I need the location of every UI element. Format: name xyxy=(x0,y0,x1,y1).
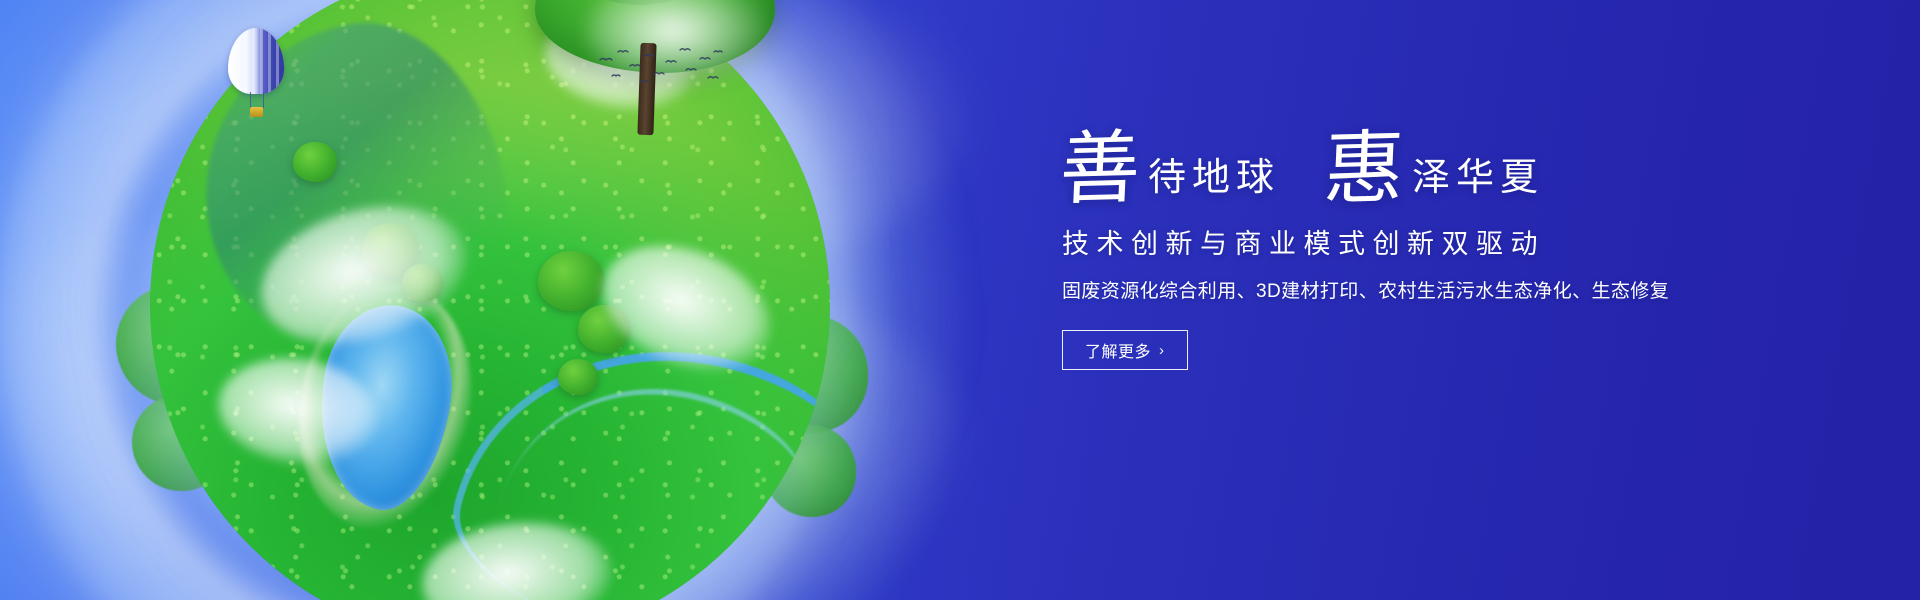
banner-content: 善 待地球 惠 泽华夏 技术创新与商业模式创新双驱动 固废资源化综合利用、3D建… xyxy=(1060,130,1780,370)
learn-more-button[interactable]: 了解更多 › xyxy=(1062,330,1188,370)
headline-small-text-2: 泽华夏 xyxy=(1412,159,1544,197)
headline-small-text-1: 待地球 xyxy=(1148,159,1280,197)
bird-flock-icon xyxy=(596,46,726,92)
hot-air-balloon-icon xyxy=(228,28,284,124)
balloon-basket xyxy=(250,107,263,117)
hero-banner: 善 待地球 惠 泽华夏 技术创新与商业模式创新双驱动 固废资源化综合利用、3D建… xyxy=(0,0,1920,600)
chevron-right-icon: › xyxy=(1159,343,1165,358)
balloon-envelope xyxy=(228,28,284,94)
headline-big-char-2: 惠 xyxy=(1322,129,1406,211)
balloon-lines xyxy=(250,92,264,108)
banner-description: 固废资源化综合利用、3D建材打印、农村生活污水生态净化、生态修复 xyxy=(1062,280,1780,304)
headline-group-1: 善 待地球 xyxy=(1060,130,1280,210)
page-title: 善 待地球 惠 泽华夏 xyxy=(1060,130,1780,210)
headline-big-char-1: 善 xyxy=(1058,129,1142,211)
learn-more-label: 了解更多 xyxy=(1085,338,1151,362)
headline-group-2: 惠 泽华夏 xyxy=(1324,130,1544,210)
banner-subtitle: 技术创新与商业模式创新双驱动 xyxy=(1062,228,1780,260)
